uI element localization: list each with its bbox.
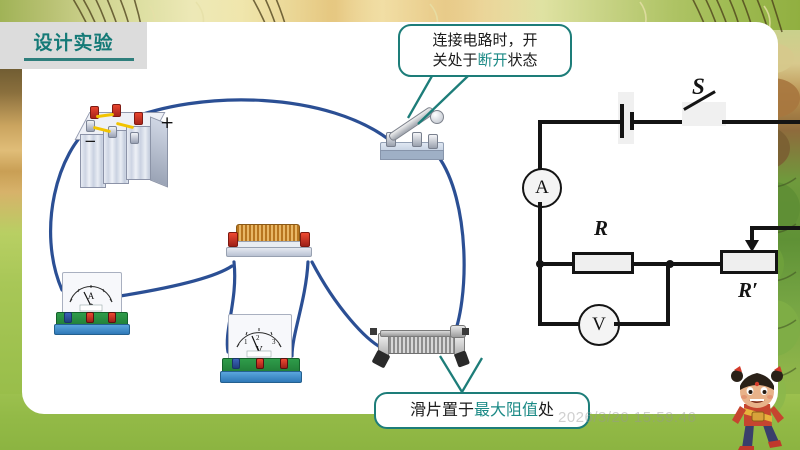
circuit-label-rheostat: R′ — [738, 278, 758, 303]
timestamp-watermark: 2026/3/20 15:59:46 — [558, 409, 696, 426]
callout-top-line2-post: 状态 — [508, 51, 538, 69]
svg-text:1: 1 — [244, 338, 248, 346]
wire-left-upper — [538, 120, 542, 170]
resistor-coil-apparatus — [222, 222, 318, 264]
mascot-character — [720, 364, 794, 450]
svg-text:A: A — [88, 291, 95, 301]
callout-top-line1: 连接电路时，开 — [432, 31, 537, 49]
wire-node-to-rheostat — [672, 262, 722, 266]
rheostat-symbol — [720, 250, 778, 274]
wire-left-lower — [538, 202, 542, 264]
wire-v-right — [666, 262, 670, 326]
switch-knob — [430, 110, 444, 124]
callout-bottom-post: 处 — [538, 400, 554, 419]
rheostat-slider-arrow — [742, 238, 764, 252]
circuit-label-resistor: R — [594, 216, 608, 241]
wire-v-bottom-left — [538, 322, 582, 326]
voltmeter-symbol-label: V — [592, 314, 606, 336]
ammeter-symbol-label: A — [535, 177, 549, 199]
wire-v-left — [538, 262, 542, 326]
voltmeter-apparatus: 1 2 3 V — [220, 314, 302, 384]
circuit-diagram: S A R R′ V — [506, 96, 778, 362]
circuit-label-switch: S — [692, 74, 705, 100]
wire-v-bottom-right — [614, 322, 670, 326]
wire-right-to-slider — [750, 226, 800, 230]
ammeter-apparatus: A — [54, 272, 130, 334]
callout-top-highlight: 断开 — [477, 51, 507, 69]
callout-switch-open: 连接电路时，开 关处于断开状态 — [398, 24, 572, 77]
callout-bottom-pre: 滑片置于 — [410, 400, 474, 419]
switch-apparatus — [376, 112, 446, 168]
battery-symbol-long-plate — [620, 104, 624, 138]
wire-node-to-R — [540, 262, 574, 266]
slide-canvas: 设计实验 — [0, 0, 800, 450]
svg-text:3: 3 — [272, 338, 276, 346]
resistor-symbol — [572, 252, 634, 274]
battery-plus-label: + — [160, 113, 174, 133]
rheostat-apparatus — [366, 326, 476, 370]
wire-switch-to-right — [722, 120, 800, 124]
svg-text:2: 2 — [256, 334, 260, 342]
battery-minus-label: − — [84, 132, 97, 150]
callout-top-line2-pre: 关处于 — [432, 51, 477, 69]
ammeter-symbol: A — [522, 168, 562, 208]
wire-top-left — [538, 120, 624, 124]
callout-bottom-highlight: 最大阻值 — [474, 400, 538, 419]
wire-battery-to-switch — [634, 120, 682, 124]
